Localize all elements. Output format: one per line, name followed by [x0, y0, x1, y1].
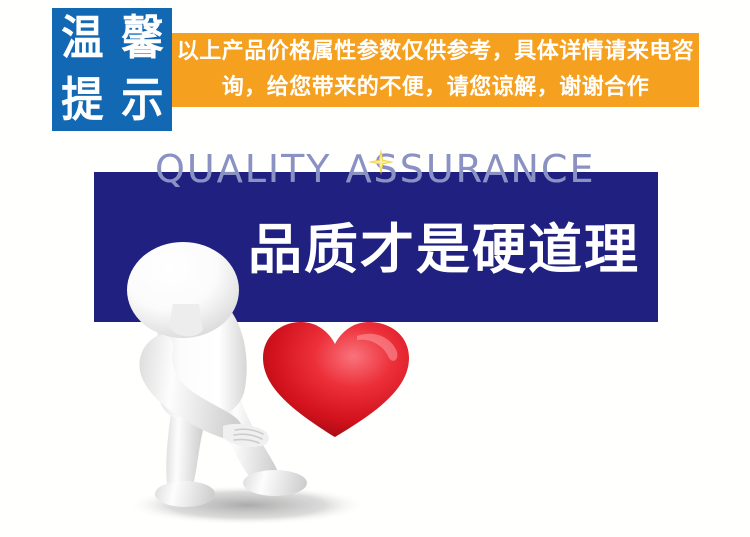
figure-right-foot [243, 470, 307, 496]
notice-badge-char-2: 馨 [115, 8, 169, 70]
figure-neck [169, 304, 203, 336]
notice-banner: 以上产品价格属性参数仅供参考，具体详情请来电咨 询，给您带来的不便，请您谅解，谢… [172, 33, 699, 107]
notice-badge-char-3: 提 [55, 70, 109, 132]
figure-hand [223, 424, 269, 447]
figure-left-foot [155, 481, 215, 507]
notice-banner-line-2: 询，给您带来的不便，请您谅解，谢谢合作 [222, 70, 650, 106]
notice-badge-char-4: 示 [115, 70, 169, 132]
notice-strip: 温 馨 提 示 以上产品价格属性参数仅供参考，具体详情请来电咨 询，给您带来的不… [0, 0, 750, 140]
notice-banner-line-1: 以上产品价格属性参数仅供参考，具体详情请来电咨 [177, 34, 695, 70]
notice-badge-char-1: 温 [55, 8, 109, 70]
promo-banner-page: 温 馨 提 示 以上产品价格属性参数仅供参考，具体详情请来电咨 询，给您带来的不… [0, 0, 750, 537]
notice-badge: 温 馨 提 示 [52, 8, 172, 131]
figure-with-heart-artwork [95, 240, 425, 537]
